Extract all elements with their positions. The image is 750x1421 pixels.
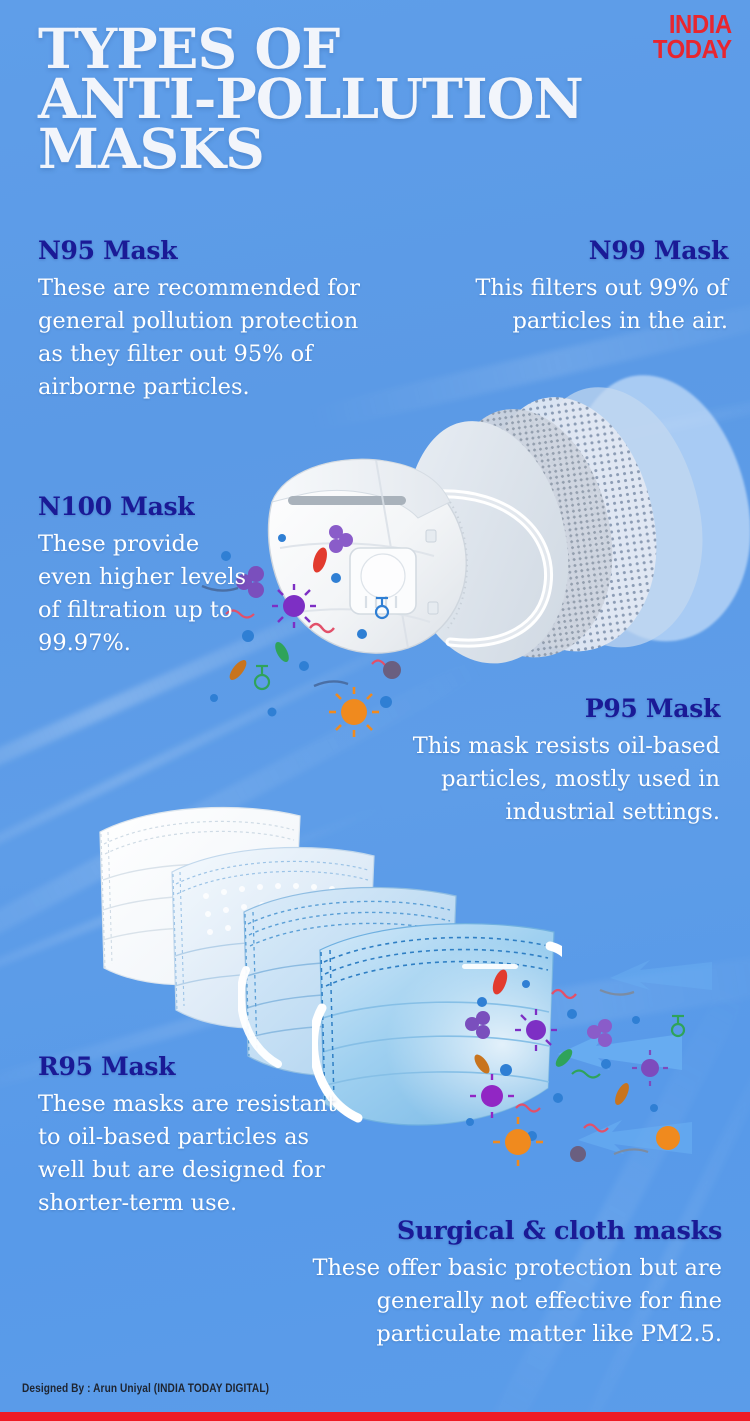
infographic-poster: TYPES OF ANTI-POLLUTION MASKS INDIA TODA… (0, 0, 750, 1421)
page-title: TYPES OF ANTI-POLLUTION MASKS (38, 24, 583, 174)
logo-line-today: TODAY (653, 37, 732, 62)
mask-heading-n100: N100 Mask (38, 492, 248, 522)
mask-block-n100: N100 Mask These provide even higher leve… (38, 492, 248, 660)
mask-body-p95: This mask resists oil-based particles, m… (400, 730, 720, 829)
footer-red-bar (0, 1412, 750, 1421)
india-today-logo: INDIA TODAY (653, 12, 732, 62)
mask-block-n95: N95 Mask These are recommended for gener… (38, 236, 378, 404)
mask-block-n99: N99 Mask This filters out 99% of particl… (398, 236, 728, 338)
mask-heading-r95: R95 Mask (38, 1052, 338, 1082)
mask-body-surgical: These offer basic protection but are gen… (282, 1252, 722, 1351)
mask-heading-n95: N95 Mask (38, 236, 378, 266)
mask-body-n95: These are recommended for general pollut… (38, 272, 378, 404)
mask-block-r95: R95 Mask These masks are resistant to oi… (38, 1052, 338, 1220)
mask-heading-n99: N99 Mask (398, 236, 728, 266)
mask-block-p95: P95 Mask This mask resists oil-based par… (400, 694, 720, 829)
mask-heading-p95: P95 Mask (400, 694, 720, 724)
mask-block-surgical: Surgical & cloth masks These offer basic… (282, 1216, 722, 1351)
designer-credit: Designed By : Arun Uniyal (INDIA TODAY D… (22, 1383, 269, 1395)
mask-heading-surgical: Surgical & cloth masks (282, 1216, 722, 1246)
mask-body-n99: This filters out 99% of particles in the… (398, 272, 728, 338)
surgical-germ-cluster-icon (454, 966, 704, 1166)
mask-body-n100: These provide even higher levels of filt… (38, 528, 248, 660)
mask-body-r95: These masks are resistant to oil-based p… (38, 1088, 338, 1220)
